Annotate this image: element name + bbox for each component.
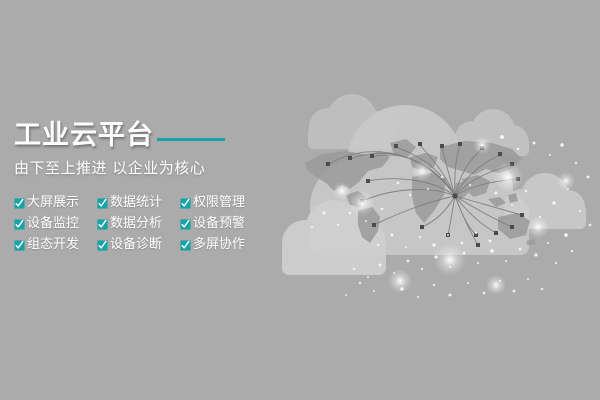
check-square-icon xyxy=(97,198,108,209)
feature-label: 数据统计 xyxy=(110,196,162,209)
check-square-icon xyxy=(14,198,25,209)
feature-label: 多屏协作 xyxy=(193,238,245,251)
feature-item[interactable]: 多屏协作 xyxy=(180,238,250,251)
network-hub-node xyxy=(452,193,457,198)
title-accent-rule xyxy=(157,138,225,141)
feature-label: 权限管理 xyxy=(193,196,245,209)
feature-item[interactable]: 组态开发 xyxy=(14,238,97,251)
check-square-icon xyxy=(97,219,108,230)
check-square-icon xyxy=(97,240,108,251)
cloud-world-network-illustration xyxy=(250,85,600,315)
title-row: 工业云平台 xyxy=(14,118,250,152)
feature-checklist: 大屏展示 数据统计 xyxy=(14,192,250,255)
check-square-icon xyxy=(14,240,25,251)
feature-item[interactable]: 设备诊断 xyxy=(97,238,180,251)
feature-item[interactable]: 权限管理 xyxy=(180,196,250,209)
check-square-icon xyxy=(14,219,25,230)
page-subtitle: 由下至上推进 以企业为核心 xyxy=(14,161,250,176)
check-square-icon xyxy=(180,219,191,230)
feature-item[interactable]: 数据统计 xyxy=(97,196,180,209)
check-square-icon xyxy=(180,240,191,251)
feature-label: 大屏展示 xyxy=(27,196,79,209)
feature-item[interactable]: 设备监控 xyxy=(14,217,97,230)
banner-copy: 工业云平台 由下至上推进 以企业为核心 大屏展示 xyxy=(14,118,250,255)
feature-label: 设备监控 xyxy=(27,217,79,230)
feature-label: 设备预警 xyxy=(193,217,245,230)
feature-label: 数据分析 xyxy=(110,217,162,230)
feature-row: 组态开发 设备诊断 xyxy=(14,234,250,255)
page-title: 工业云平台 xyxy=(14,122,154,149)
feature-item[interactable]: 大屏展示 xyxy=(14,196,97,209)
feature-item[interactable]: 设备预警 xyxy=(180,217,250,230)
industrial-cloud-banner: 工业云平台 由下至上推进 以企业为核心 大屏展示 xyxy=(0,0,600,400)
feature-label: 设备诊断 xyxy=(110,238,162,251)
check-square-icon xyxy=(180,198,191,209)
feature-row: 大屏展示 数据统计 xyxy=(14,192,250,213)
feature-row: 设备监控 数据分析 xyxy=(14,213,250,234)
feature-item[interactable]: 数据分析 xyxy=(97,217,180,230)
feature-label: 组态开发 xyxy=(27,238,79,251)
